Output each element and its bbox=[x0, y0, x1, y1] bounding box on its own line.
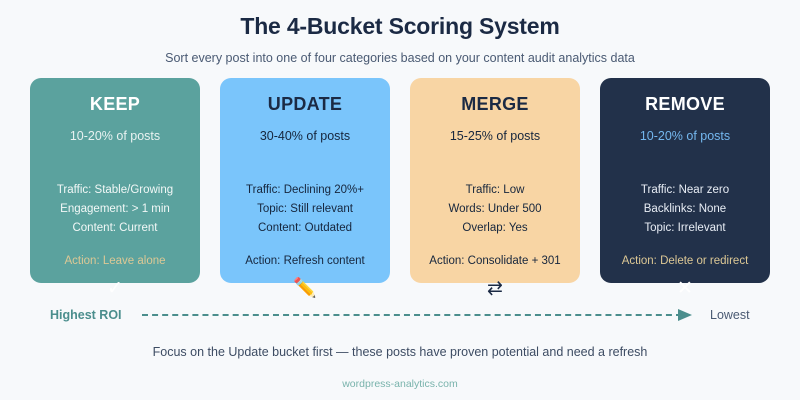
bucket-action: Action: Leave alone bbox=[64, 238, 165, 269]
bucket-title: KEEP bbox=[90, 90, 140, 116]
bucket-metric: Backlinks: None bbox=[641, 200, 729, 219]
page-title: The 4-Bucket Scoring System bbox=[0, 13, 800, 41]
bucket-card-update[interactable]: UPDATE30-40% of postsTraffic: Declining … bbox=[220, 78, 390, 283]
bucket-percent: 15-25% of posts bbox=[450, 116, 540, 144]
bucket-card-list: KEEP10-20% of postsTraffic: Stable/Growi… bbox=[30, 78, 770, 283]
bucket-metric: Traffic: Low bbox=[448, 181, 541, 200]
bucket-metric: Content: Current bbox=[57, 219, 173, 238]
bucket-action: Action: Refresh content bbox=[245, 238, 365, 269]
bucket-action: Action: Delete or redirect bbox=[622, 238, 749, 269]
bucket-title: REMOVE bbox=[645, 90, 725, 116]
bucket-metric: Traffic: Near zero bbox=[641, 181, 729, 200]
footer-note: Focus on the Update bucket first — these… bbox=[0, 345, 800, 360]
roi-scale: Highest ROI Lowest bbox=[0, 303, 800, 327]
bucket-percent: 30-40% of posts bbox=[260, 116, 350, 144]
bucket-action: Action: Consolidate + 301 bbox=[429, 238, 560, 269]
bucket-metric: Traffic: Stable/Growing bbox=[57, 181, 173, 200]
bucket-metric-list: Traffic: Declining 20%+Topic: Still rele… bbox=[246, 169, 364, 238]
bucket-card-keep[interactable]: KEEP10-20% of postsTraffic: Stable/Growi… bbox=[30, 78, 200, 283]
bucket-metric: Topic: Irrelevant bbox=[641, 219, 729, 238]
bucket-title: UPDATE bbox=[268, 90, 342, 116]
bucket-metric: Overlap: Yes bbox=[448, 219, 541, 238]
bucket-percent: 10-20% of posts bbox=[70, 116, 160, 144]
bucket-metric: Words: Under 500 bbox=[448, 200, 541, 219]
bucket-percent: 10-20% of posts bbox=[640, 116, 730, 144]
page-header: The 4-Bucket Scoring System Sort every p… bbox=[0, 0, 800, 66]
bucket-card-merge[interactable]: MERGE15-25% of postsTraffic: LowWords: U… bbox=[410, 78, 580, 283]
pencil-icon: ✏️ bbox=[293, 268, 317, 298]
bucket-card-remove[interactable]: REMOVE10-20% of postsTraffic: Near zeroB… bbox=[600, 78, 770, 283]
bucket-metric: Content: Outdated bbox=[246, 219, 364, 238]
bucket-metric: Engagement: > 1 min bbox=[57, 200, 173, 219]
roi-lowest-label: Lowest bbox=[710, 308, 750, 322]
roi-highest-label: Highest ROI bbox=[50, 308, 122, 322]
check-icon: ✓ bbox=[107, 268, 123, 298]
page-footer: Focus on the Update bucket first — these… bbox=[0, 345, 800, 391]
roi-arrow-line bbox=[142, 314, 698, 316]
page-subtitle: Sort every post into one of four categor… bbox=[0, 41, 800, 66]
bucket-metric-list: Traffic: LowWords: Under 500Overlap: Yes bbox=[448, 169, 541, 238]
close-x-icon: ✕ bbox=[677, 268, 693, 298]
bucket-metric: Topic: Still relevant bbox=[246, 200, 364, 219]
footer-url: wordpress-analytics.com bbox=[0, 360, 800, 391]
roi-dashed-line bbox=[142, 314, 682, 316]
bucket-metric-list: Traffic: Stable/GrowingEngagement: > 1 m… bbox=[57, 169, 173, 238]
bucket-metric: Traffic: Declining 20%+ bbox=[246, 181, 364, 200]
bucket-title: MERGE bbox=[461, 90, 529, 116]
bucket-metric-list: Traffic: Near zeroBacklinks: NoneTopic: … bbox=[641, 169, 729, 238]
roi-arrowhead-icon bbox=[678, 309, 692, 321]
swap-arrows-icon: ⇄ bbox=[487, 268, 503, 298]
